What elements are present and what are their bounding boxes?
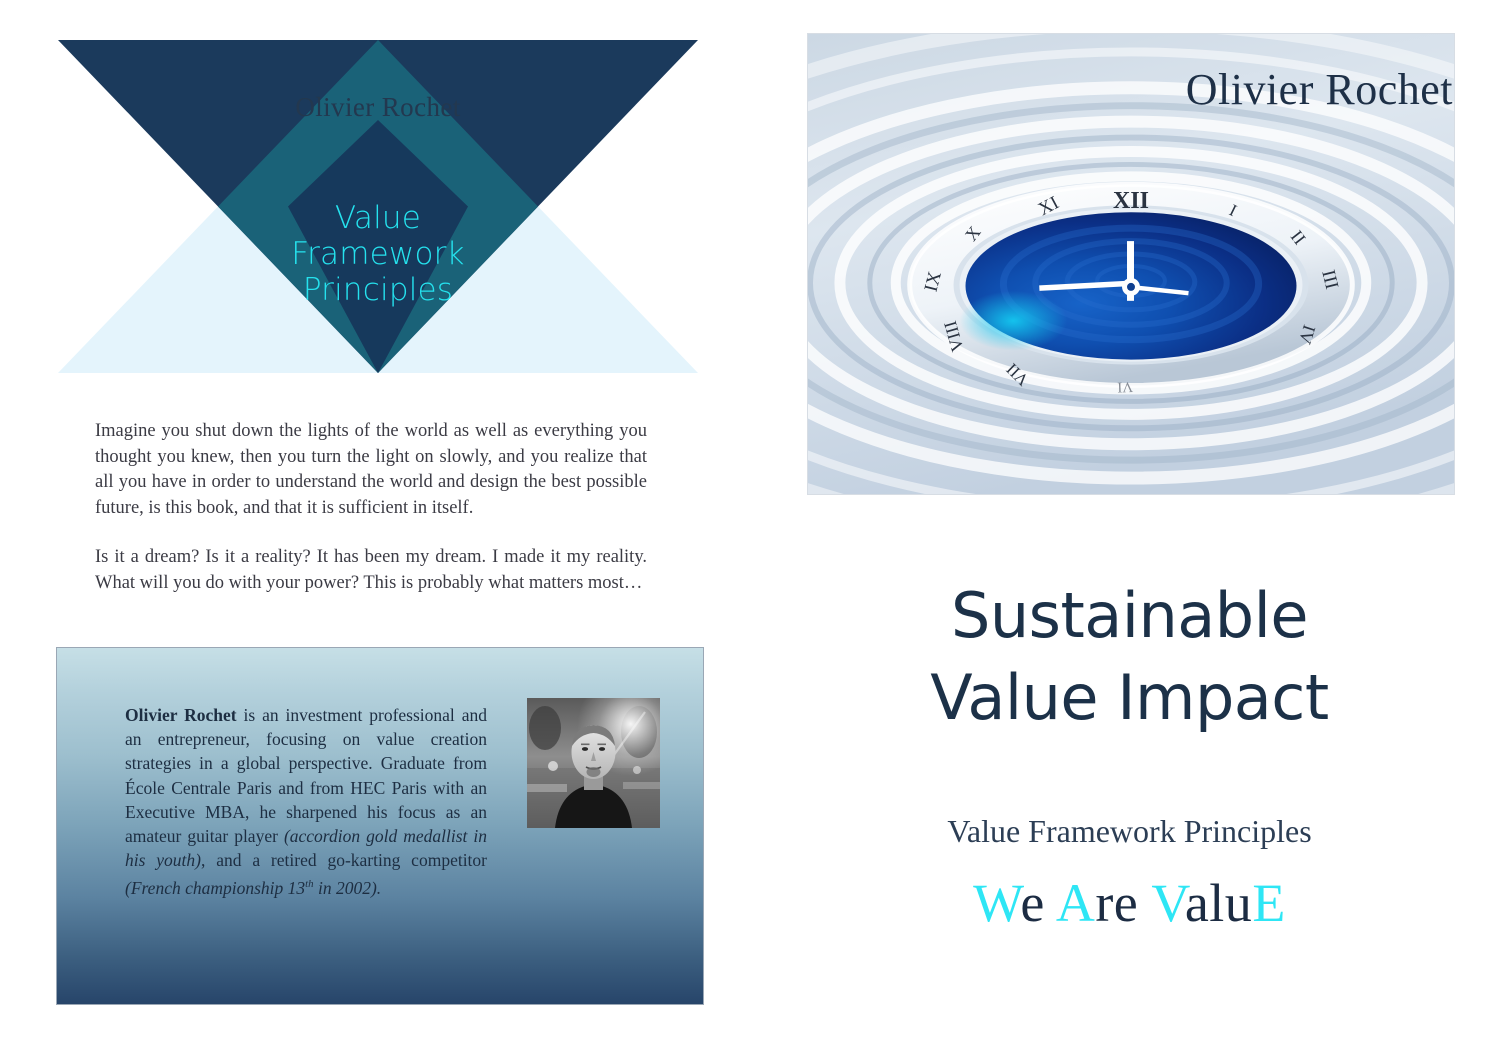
tagline-part-2: A [1056, 873, 1096, 933]
svg-text:XII: XII [1113, 188, 1149, 214]
author-photo-graphic [527, 698, 660, 828]
tagline-part-1: e [1020, 873, 1056, 933]
svg-text:VI: VI [1117, 378, 1133, 395]
tagline-part-6: E [1252, 873, 1286, 933]
author-bio-box: Olivier Rochet is an investment professi… [56, 647, 704, 1005]
blurb-paragraph-1: Imagine you shut down the lights of the … [95, 419, 647, 521]
back-cover-blurb: Imagine you shut down the lights of the … [95, 419, 647, 596]
author-bio-italic-2-pre: (French championship 13 [125, 878, 305, 898]
author-photo [527, 698, 660, 828]
front-cover-author-name: Olivier Rochet [753, 64, 1453, 115]
brand-logo-mark: Olivier Rochet Value Framework Principle… [58, 40, 698, 373]
front-title-line-2: Value Impact [753, 657, 1506, 739]
logo-author-name: Olivier Rochet [58, 92, 698, 123]
author-bio-segment-2: , and a retired go-karting competitor [201, 850, 487, 870]
front-cover-title: Sustainable Value Impact [753, 575, 1506, 739]
tagline-part-0: W [973, 873, 1020, 933]
author-bio-name: Olivier Rochet [125, 705, 237, 725]
author-bio-ordinal-suffix: th [305, 878, 313, 890]
logo-title-line-1: Value [58, 200, 698, 236]
logo-title-line-3: Principles [58, 272, 698, 308]
dial-glow [960, 291, 1068, 351]
author-bio-italic-2-post: in 2002). [314, 878, 382, 898]
logo-title-block: Value Framework Principles [58, 200, 698, 308]
blurb-paragraph-2: Is it a dream? Is it a reality? It has b… [95, 545, 647, 596]
author-bio-text: Olivier Rochet is an investment professi… [125, 703, 487, 900]
tagline-part-4: V [1151, 873, 1185, 933]
back-cover-panel: Olivier Rochet Value Framework Principle… [0, 0, 753, 1051]
front-cover-subtitle: Value Framework Principles [753, 813, 1506, 850]
front-cover-panel: XII I II III IV XI X IX VIII VII VI [753, 0, 1506, 1051]
tagline-part-5: alu [1185, 873, 1252, 933]
author-bio-segment-1: is an investment professional and an ent… [125, 705, 487, 846]
logo-title-line-2: Framework [58, 236, 698, 272]
tagline-part-3: re [1095, 873, 1151, 933]
front-cover-tagline: We Are ValuE [753, 872, 1506, 934]
front-title-line-1: Sustainable [753, 575, 1506, 657]
author-bio-italic-2: (French championship 13th in 2002). [125, 878, 381, 898]
